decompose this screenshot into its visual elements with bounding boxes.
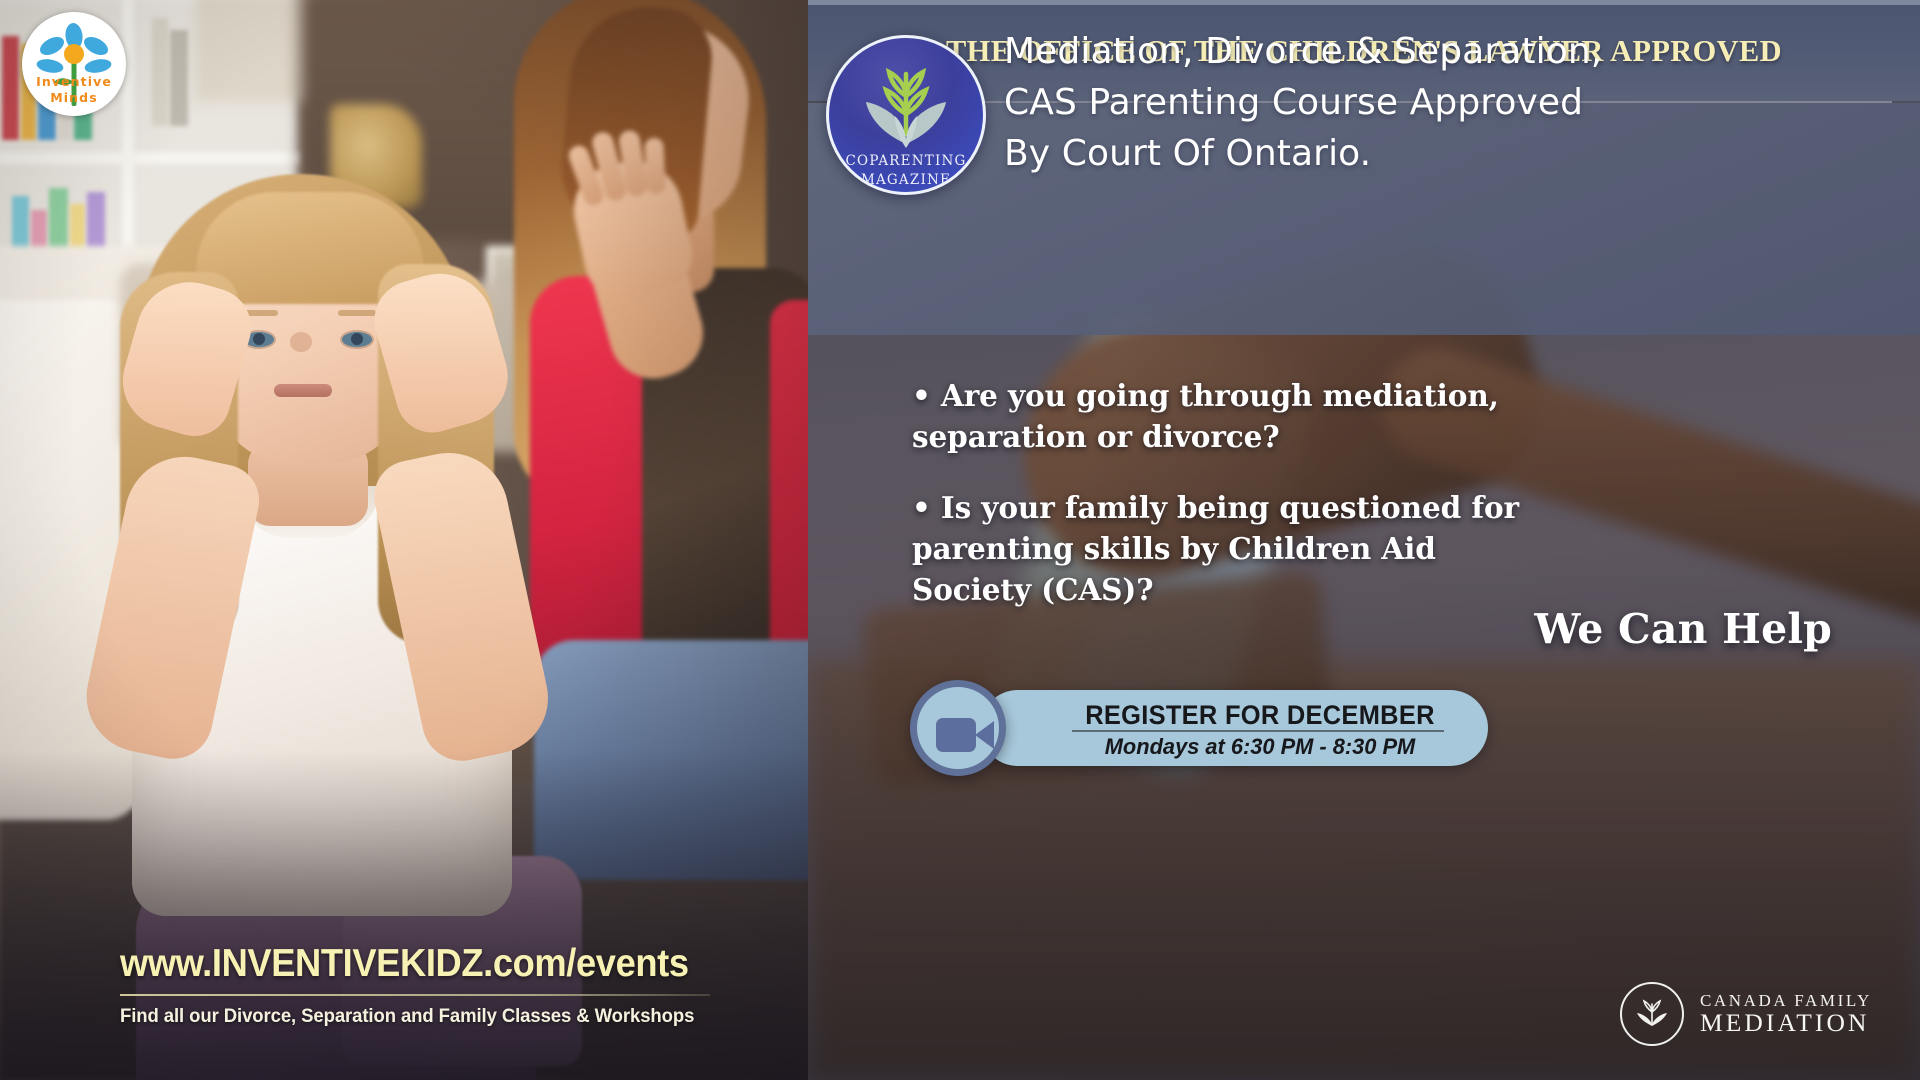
approval-subheading: Mediation, Divorce & Separation, CAS Par… <box>1004 26 1904 179</box>
svg-text:Minds: Minds <box>50 90 98 105</box>
footer-tagline: Find all our Divorce, Separation and Fam… <box>120 1005 690 1028</box>
eyebrow <box>338 310 376 316</box>
picture-frame <box>196 0 316 102</box>
book <box>2 36 19 140</box>
eye <box>342 332 372 347</box>
left-footer: www.INVENTIVEKIDZ.com/events Find all ou… <box>120 942 720 1028</box>
subheading-line-2: CAS Parenting Course Approved <box>1004 77 1904 128</box>
video-camera-icon <box>936 718 976 752</box>
subheading-line-1: Mediation, Divorce & Separation, <box>1004 26 1904 77</box>
footer-divider <box>120 994 710 996</box>
cfm-sprout-icon <box>1631 993 1673 1035</box>
cta-schedule-label: Mondays at 6:30 PM - 8:30 PM <box>1066 734 1454 760</box>
video-camera-badge[interactable] <box>910 680 1006 776</box>
book <box>170 30 188 126</box>
right-content-panel: THE OFFICE OF THE CHILDREN'S LAWYER APPR… <box>808 0 1920 1080</box>
svg-text:Inventive: Inventive <box>36 74 112 89</box>
bottom-shade <box>0 750 808 1080</box>
svg-text:MAGAZINE: MAGAZINE <box>861 172 951 188</box>
canada-family-mediation-logo[interactable]: CANADA FAMILY MEDIATION <box>1620 982 1872 1046</box>
svg-text:COPARENTING: COPARENTING <box>846 153 967 169</box>
daisy-flower-icon: Inventive Minds <box>22 12 126 116</box>
cta-divider <box>1072 730 1444 732</box>
cfm-line-2: MEDIATION <box>1700 1010 1872 1037</box>
subheading-line-3: By Court Of Ontario. <box>1004 128 1904 179</box>
bullet-item: • Is your family being questioned for pa… <box>912 487 1552 610</box>
coparenting-magazine-logo[interactable]: COPARENTING MAGAZINE <box>826 35 986 195</box>
register-cta[interactable]: REGISTER FOR DECEMBER Mondays at 6:30 PM… <box>910 680 1488 776</box>
left-photo-panel: Inventive Minds www.INVENTIVEKIDZ.com/ev… <box>0 0 808 1080</box>
promotional-poster: Inventive Minds www.INVENTIVEKIDZ.com/ev… <box>0 0 1920 1080</box>
bullet-list: • Are you going through mediation, separ… <box>912 375 1552 610</box>
cfm-emblem-icon <box>1620 982 1684 1046</box>
cfm-line-1: CANADA FAMILY <box>1700 992 1872 1010</box>
we-can-help-heading: We Can Help <box>1534 605 1832 653</box>
bullet-item: • Are you going through mediation, separ… <box>912 375 1552 457</box>
cfm-wordmark: CANADA FAMILY MEDIATION <box>1700 992 1872 1036</box>
nose <box>290 332 312 352</box>
cta-main-label: REGISTER FOR DECEMBER <box>1068 700 1452 731</box>
inventive-minds-logo[interactable]: Inventive Minds <box>22 12 126 116</box>
book <box>152 18 168 126</box>
mouth <box>274 384 332 397</box>
sprout-emblem-icon: COPARENTING MAGAZINE <box>829 38 983 192</box>
finger <box>644 137 666 194</box>
video-camera-lens-icon <box>975 721 994 749</box>
website-url[interactable]: www.INVENTIVEKIDZ.com/events <box>120 942 678 986</box>
